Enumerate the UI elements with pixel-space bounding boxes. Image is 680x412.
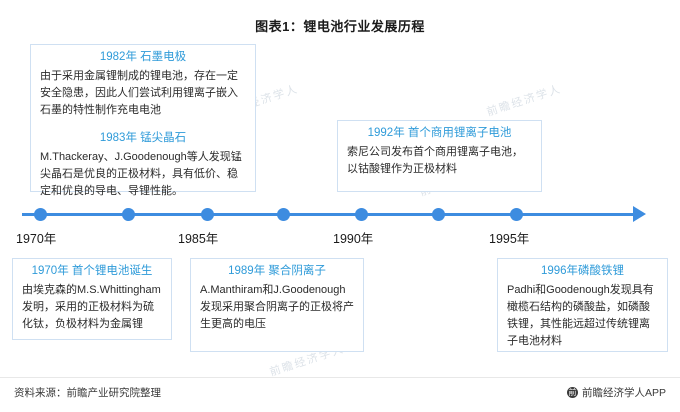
timeline-node	[277, 208, 290, 221]
event-card-1992: 1992年 首个商用锂离子电池 索尼公司发布首个商用锂离子电池，以钴酸锂作为正极…	[337, 120, 542, 192]
card-body-1996: Padhi和Goodenough发现具有橄榄石结构的磷酸盐，如磷酸铁锂，其性能远…	[498, 282, 667, 357]
event-card-1982-1983: 1982年 石墨电极 由于采用金属锂制成的锂电池，存在一定安全隐患，因此人们尝试…	[30, 44, 256, 192]
source-note: 资料来源：前瞻产业研究院整理	[14, 385, 161, 400]
timeline-node	[432, 208, 445, 221]
event-card-1970: 1970年 首个锂电池诞生 由埃克森的M.S.Whittingham发明，采用的…	[12, 258, 172, 340]
brand-label: 前瞻经济学人APP	[582, 385, 666, 400]
brand-credit: 前 前瞻经济学人APP	[567, 385, 666, 400]
card-heading-1982: 1982年 石墨电极	[31, 45, 255, 68]
timeline-node	[510, 208, 523, 221]
timeline-node	[355, 208, 368, 221]
timeline-node	[34, 208, 47, 221]
timeline-node	[201, 208, 214, 221]
card-body-1970: 由埃克森的M.S.Whittingham发明，采用的正极材料为硫化钛，负极材料为…	[13, 282, 171, 340]
card-heading-1970: 1970年 首个锂电池诞生	[13, 259, 171, 282]
card-body-1982: 由于采用金属锂制成的锂电池，存在一定安全隐患，因此人们尝试利用锂离子嵌入石墨的特…	[31, 68, 255, 126]
timeline-node	[122, 208, 135, 221]
card-body-1983: M.Thackeray、J.Goodenough等人发现锰尖晶石是优良的正极材料…	[31, 149, 255, 207]
footer-divider	[0, 377, 680, 378]
watermark: 前瞻经济学人	[484, 80, 563, 119]
card-body-1992: 索尼公司发布首个商用锂离子电池，以钴酸锂作为正极材料	[338, 144, 541, 185]
card-heading-1983: 1983年 锰尖晶石	[31, 126, 255, 149]
timeline-arrow-icon	[633, 206, 646, 222]
axis-label-1970: 1970年	[16, 228, 56, 247]
card-body-1989: A.Manthiram和J.Goodenough发现采用聚合阴离子的正极将产生更…	[191, 282, 363, 340]
event-card-1996: 1996年磷酸铁锂 Padhi和Goodenough发现具有橄榄石结构的磷酸盐，…	[497, 258, 668, 352]
axis-label-1995: 1995年	[489, 228, 529, 247]
axis-label-1985: 1985年	[178, 228, 218, 247]
card-heading-1992: 1992年 首个商用锂离子电池	[338, 121, 541, 144]
axis-label-1990: 1990年	[333, 228, 373, 247]
brand-badge-icon: 前	[567, 387, 578, 398]
card-heading-1989: 1989年 聚合阴离子	[191, 259, 363, 282]
card-heading-1996: 1996年磷酸铁锂	[498, 259, 667, 282]
page-title: 图表1：锂电池行业发展历程	[0, 16, 680, 35]
timeline-axis	[22, 213, 636, 216]
event-card-1989: 1989年 聚合阴离子 A.Manthiram和J.Goodenough发现采用…	[190, 258, 364, 352]
